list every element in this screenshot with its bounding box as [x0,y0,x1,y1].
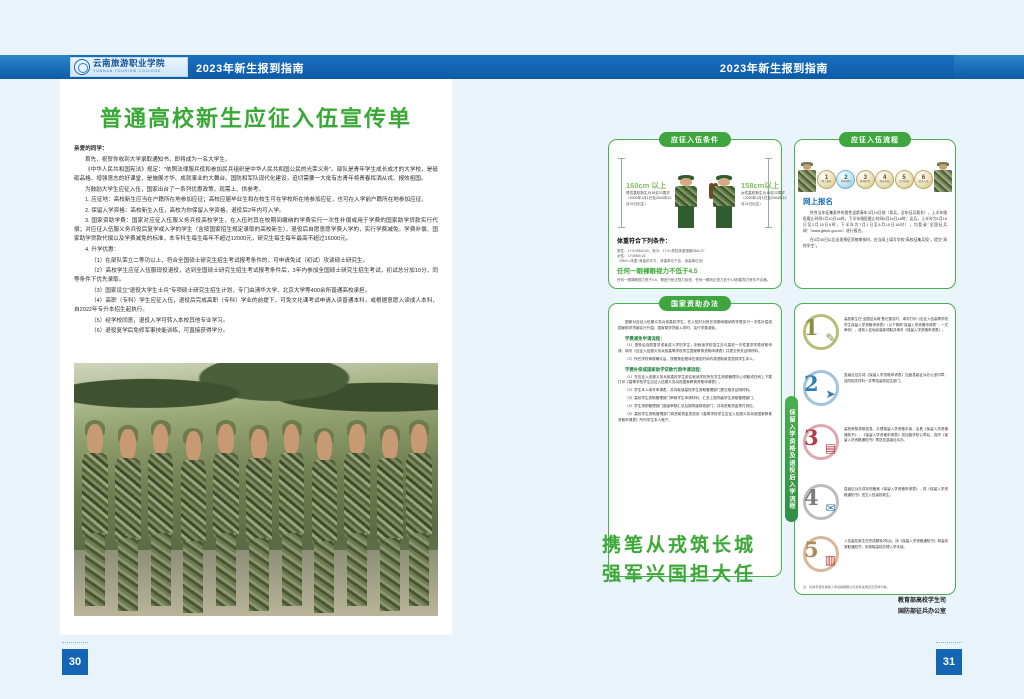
paragraph: （3）国家设立"退役大学生士兵"专项硕士研究生招生计划，专门由清华大学、北京大学… [74,287,438,296]
paragraph: （4）高职（专科）学生应征入伍，退役后完成高职（专科）学业的前提下，可免文化课考… [74,297,438,315]
paragraph: （3）高校学生资助管理部门审核学生申请材料，汇总上报同级学生资助管理部门。 [618,396,772,402]
page-number-right: 31 [936,649,962,675]
flow-step-list: 1 网上报名 2 初审初检 3 体格检查 4 政治考核 5 走访调查 [817,168,933,190]
header-title-left: 2023年新生报到指南 [196,60,304,76]
paper-plane-icon: ➤ [823,386,838,401]
keep-step-text: 高校审核录取信息，办理保留入学资格手续，出具《保留入学资格通知书》，《保留入学资… [844,424,948,444]
soldier-photo-left-icon [797,162,817,192]
article-body: 亲爱的同学： 首先，祝贺你收到大学录取通知书，即将成为一名大学生。 《中华人民共… [74,145,438,338]
male-height-value: 160cm 以上 [626,180,666,191]
flow-body: 符合当年征集条件的男性适龄青年3月10日前（男兵，全年征兵报名），上半年服役截止… [803,210,947,252]
paragraph: 在4月30日以后出现预征资格审核时，应当网上填写学校"高校征集兵役"，提交"高校… [803,237,947,249]
male-recruit-figure-icon [673,174,699,228]
document-check-icon: ▤ [823,440,838,455]
paragraph: 首先，祝贺你收到大学录取通知书，即将成为一名大学生。 [74,156,438,165]
weight-line-3: （BMI＝体重÷身高的平方，体重单位千克，身高单位米） [617,259,773,264]
panel-caption-funding: 国家资助办法 [659,296,731,311]
panel-keep-admission-process: 保留入学资格及退役后入学流程 1 ✎ 高校新生在"全国征兵网"登记报名时，填写打… [794,303,956,595]
female-height-note: 女性高校新生为18至22周岁（2000年1月1日至2004年12月31日出生） [741,191,787,207]
conditions-text: 体重符合下列条件： 男性：17.5<BMI<30，其中：17.5<男性体重指数B… [617,238,773,284]
college-seal-icon [74,59,90,75]
keep-step-5: 5 ▥ 入伍高校新生在完成服役2年后，持《保留入学资格通知书》和高校录取通知书，… [803,536,948,572]
keep-step-1: 1 ✎ 高校新生在"全国征兵网"登记报名时，填写打印《应征入伍高等学校学生保留入… [803,314,948,350]
subheading: 学费补偿或国家助学贷款代偿申请流程： [618,366,772,373]
step-label: 网上报名 [821,181,831,184]
panel-caption-conditions: 应征入伍条件 [659,132,731,147]
badge-number: 3 [804,427,819,448]
slogan-line-1: 携笔从戎筑长城 [602,531,756,560]
pencil-note-icon: ✎ [823,330,838,345]
keep-step-text: 高校新生在"全国征兵网"登记报名时，填写打印《应征入伍高等学校学生保留入学资格申… [844,314,948,334]
step-label: 批准入伍 [918,181,928,184]
header-bar-left: 云南旅游职业学院 YUNNAN TOURISM COLLEGE 2023年新生报… [0,55,512,79]
flow-step-5[interactable]: 5 走访调查 [895,170,914,189]
badge-number: 1 [804,317,819,338]
page-left: 普通高校新生应征入伍宣传单 亲爱的同学： 首先，祝贺你收到大学录取通知书，即将成… [60,79,452,635]
header-flag-left [0,55,70,79]
paragraph: 为鼓励大学生应征入伍，国家出台了一系列优惠政策，现需上、供参考。 [74,186,438,195]
signoff-line-2: 国防部征兵办公室 [898,607,946,618]
paragraph: （6）退役复学后免修军事技能训练，可直接获得学分。 [74,327,438,336]
salutation: 亲爱的同学： [74,145,438,154]
flow-step-1[interactable]: 1 网上报名 [817,170,836,189]
flow-heading: 网上报名 [803,196,833,207]
badge-number: 5 [804,539,819,560]
keep-note: 注：具体手续及保留入学资格期限以高校有关规定及安排为准。 [803,584,948,589]
vision-heading: 任何一眼裸眼视力不低于4.5 [617,267,773,277]
panel-caption-flow: 应征入伍流程 [839,132,911,147]
panel-enlistment-conditions: 应征入伍条件 160cm 以上 男性高校新生为18至22周岁（2000年1月1日… [608,139,782,289]
step-label: 政治考核 [880,181,890,184]
page-number-tick-left [62,642,88,647]
panel-enlistment-flow: 应征入伍流程 1 网上报名 2 初审初检 3 体格检查 [794,139,956,289]
header-title-right: 2023年新生报到指南 [720,60,828,76]
paragraph: （1）退役后自愿复学或者成人学历学生，到就读学校招生办与高校一次性复学学费资助申… [618,343,772,355]
step-label: 走访调查 [899,181,909,184]
header-flag-right [954,55,1024,79]
college-logo-left: 云南旅游职业学院 YUNNAN TOURISM COLLEGE [70,57,188,77]
paragraph: （2）所在学校审核确认后，按照规定程序在规定时间内将资助款发放到学生本人。 [618,357,772,363]
keep-step-3: 3 ▤ 高校审核录取信息，办理保留入学资格手续，出具《保留入学资格通知书》，《保… [803,424,948,460]
header-bar-right: 2023年新生报到指南 云南旅游职业学院 YUNNAN TOURISM COLL… [512,55,1024,79]
paragraph: （4）学生资助管理部门逐级审核汇总后报同级财政部门，并将资助资金拨付到位。 [618,404,772,410]
flow-step-4[interactable]: 4 政治考核 [875,170,894,189]
flow-step-3[interactable]: 3 体格检查 [856,170,875,189]
height-requirement-chart: 160cm 以上 男性高校新生为18至22周岁（2000年1月1日至2004年1… [617,158,773,236]
college-name-cn: 云南旅游职业学院 [93,60,165,69]
keep-badge-5: 5 ▥ [803,536,839,572]
paragraph: （5）经学校同意，退役入学可转入本校其他专业学习。 [74,317,438,326]
keep-step-2: 2 ➤ 县级应征办将《保留入学资格申请表》加盖县级征兵办公室印章，连同相关材料一… [803,370,948,406]
paragraph: 4. 升学优惠： [74,246,438,255]
step-label: 初审初检 [841,181,851,184]
signoff-line-1: 教育部高校学生司 [898,596,946,607]
subheading: 学费减免申请流程： [618,335,772,342]
envelope-icon: ✉ [823,500,838,515]
paragraph: 国家对应征入伍服义务兵役高校学生，在入伍时对其在校期间缴纳的学费实行一次性补偿或… [618,320,772,332]
keep-step-text: 县级应征办将《保留入学资格申请表》加盖县级征兵办公室印章，连同相关材料一并寄给高… [844,370,948,384]
keep-step-text: 入伍高校新生在完成服役2年后，持《保留入学资格通知书》和高校录取通知书，到录取高… [844,536,948,550]
slogan-block: 携笔从戎筑长城 强军兴国担大任 [602,531,756,590]
magazine-spread: 云南旅游职业学院 YUNNAN TOURISM COLLEGE 2023年新生报… [0,0,1024,699]
vision-note: 任何一眼裸眼视力低于4.5，需进行矫正视力检查，任何一眼矫正视力低于4.8即属视… [617,278,773,283]
page-number-tick-right [936,642,962,647]
soldier-photo-right-icon [933,162,953,192]
paragraph: （2）高校学生应征入伍服现役退役，达到全国硕士研究生招生考试报考条件后，3年内参… [74,267,438,285]
page-number-left: 30 [62,649,88,675]
slogan-line-2: 强军兴国担大任 [602,560,756,589]
weight-heading: 体重符合下列条件： [617,238,773,248]
female-height-value: 158cm以上 [741,180,779,191]
female-recruit-figure-icon [711,174,737,228]
college-name-en: YUNNAN TOURISM COLLEGE [93,70,165,74]
school-building-icon: ▥ [823,552,838,567]
paragraph: 3. 国家资助学费：国家对应征入伍服义务兵役高校学生，在入伍时其在校期间缴纳的学… [74,217,438,244]
badge-number: 2 [804,373,819,394]
keep-badge-2: 2 ➤ [803,370,839,406]
page-title: 普通高校新生应征入伍宣传单 [60,101,452,133]
page-right: 应征入伍条件 160cm 以上 男性高校新生为18至22周岁（2000年1月1日… [572,79,964,635]
flow-step-6[interactable]: 6 批准入伍 [914,170,933,189]
paragraph: 《中华人民共和国宪法》规定："依照法律服兵役和参加民兵组织是中华人民共和国公民的… [74,166,438,184]
paragraph: （1）在应征入伍服义务兵役高校学生前往就读学校所在学生资助管理中心领取或在网上下… [618,375,772,387]
male-height-note: 男性高校新生为18至22周岁（2000年1月1日至2004年12月31日出生） [626,191,672,207]
paragraph: 符合当年征集条件的男性适龄青年3月10日前（男兵，全年征兵报名），上半年服役截止… [803,210,947,234]
paragraph: （5）高校学生资助管理部门将资助资金发放到《高等学校学生应征入伍服义务兵役国家教… [618,412,772,424]
paragraph: （1）在部队荣立二等功以上，符合全国硕士研究生招生考试报考条件的，可申请免试（初… [74,257,438,266]
signoff-block: 教育部高校学生司 国防部征兵办公室 [898,596,946,617]
keep-badge-3: 3 ▤ [803,424,839,460]
funding-body: 国家对应征入伍服义务兵役高校学生，在入伍时对其在校期间缴纳的学费实行一次性补偿或… [618,320,772,426]
paragraph: 1. 应征地：高校新生应当在户籍所在地参加应征；高校应届毕业生和在校生可在学校所… [74,196,438,205]
paragraph: （2）学生本人填写申请表，并向就读高校学生资助管理部门提交相关证明材料。 [618,388,772,394]
recruits-marching-photo [74,363,438,616]
flow-step-2[interactable]: 2 初审初检 [836,170,855,189]
keep-step-4: 4 ✉ 县级征兵办将存档备案《保留入学资格申请表》，将《保留入学资格通知书》送交… [803,484,948,520]
keep-badge-4: 4 ✉ [803,484,839,520]
panel-side-label-keep: 保留入学资格及退役后入学流程 [785,396,798,522]
keep-step-text: 县级征兵办将存档备案《保留入学资格申请表》，将《保留入学资格通知书》送交入伍高校… [844,484,948,498]
badge-number: 4 [804,487,819,508]
paragraph: 2. 保留入学资格：高校新生入伍，高校为你保留入学资格，退役后2年内可入学。 [74,207,438,216]
keep-badge-1: 1 ✎ [803,314,839,350]
step-label: 体格检查 [860,181,870,184]
